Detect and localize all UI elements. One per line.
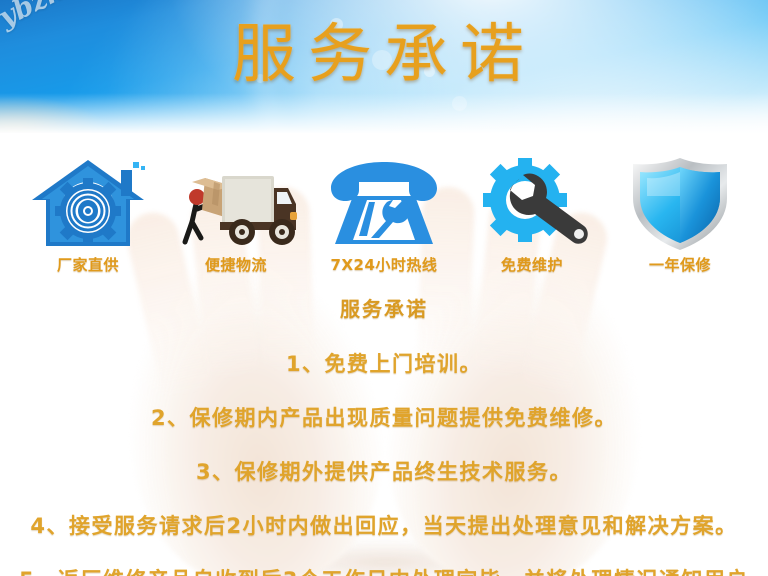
delivery-truck-icon <box>170 154 302 252</box>
feature-label: 7X24小时热线 <box>331 254 438 275</box>
promise-line-1: 1、免费上门培训。 <box>0 348 768 378</box>
gear-wrench-icon <box>469 154 595 252</box>
feature-label: 一年保修 <box>649 254 711 275</box>
feature-label: 厂家直供 <box>57 254 119 275</box>
feature-item-free-maintenance[interactable]: 免费维护 <box>462 143 602 275</box>
promise-line-3: 3、保修期外提供产品终生技术服务。 <box>0 456 768 486</box>
feature-label: 免费维护 <box>501 254 563 275</box>
feature-item-warranty[interactable]: 一年保修 <box>610 143 750 275</box>
house-gear-icon <box>26 154 150 252</box>
promise-text-block: 服务承诺 1、免费上门培训。 2、保修期内产品出现质量问题提供免费维修。 3、保… <box>0 293 768 576</box>
feature-item-hotline[interactable]: 7X24小时热线 <box>314 143 454 275</box>
content-area: 厂家直供 <box>0 133 768 576</box>
promise-line-4: 4、接受服务请求后2小时内做出回应，当天提出处理意见和解决方案。 <box>0 510 768 540</box>
feature-item-logistics[interactable]: 便捷物流 <box>166 143 306 275</box>
bokeh-dot <box>452 96 467 111</box>
promise-line-5: 5、返厂维修产品自收到后3个工作日内处理完毕，并将处理情况通知用户 <box>0 564 768 576</box>
feature-label: 便捷物流 <box>205 254 267 275</box>
feature-item-factory-direct[interactable]: 厂家直供 <box>18 143 158 275</box>
service-promise-page: 服务承诺 ybzhan.cn <box>0 0 768 576</box>
phone-wrench-icon <box>323 154 445 252</box>
page-title: 服务承诺 <box>0 22 768 89</box>
feature-icon-row: 厂家直供 <box>0 143 768 275</box>
promise-line-2: 2、保修期内产品出现质量问题提供免费维修。 <box>0 402 768 432</box>
banner-warm-corner <box>0 87 130 133</box>
banner-bottom-fade <box>0 93 768 133</box>
header-banner: 服务承诺 ybzhan.cn <box>0 0 768 133</box>
promise-heading: 服务承诺 <box>0 293 768 322</box>
shield-icon <box>625 154 735 252</box>
